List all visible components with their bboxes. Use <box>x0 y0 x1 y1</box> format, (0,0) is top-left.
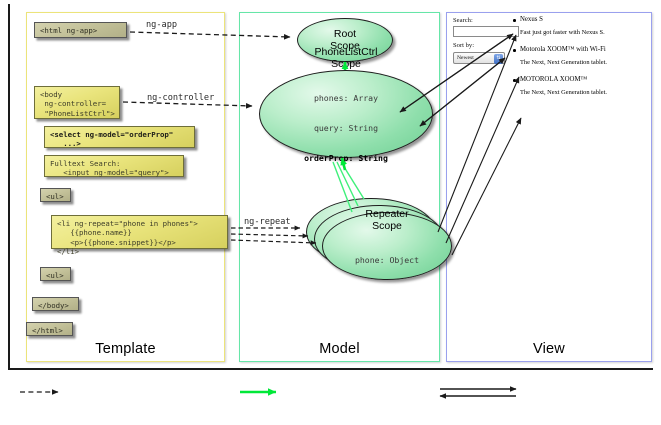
phone-snippet: Fast just got faster with Nexus S. <box>520 29 648 36</box>
template-box-html-tag: <html ng-app> <box>34 22 127 38</box>
diagram-root: Template Model View <html ng-app> <body … <box>0 0 661 425</box>
scope-property-phone: phone: Object <box>355 255 419 265</box>
edge-label-ng-controller: ng-controller <box>147 93 214 103</box>
legend: Implicit Scope Declaration Scope Inherit… <box>0 378 661 424</box>
view-search-input[interactable] <box>453 26 519 37</box>
phone-name: Nexus S <box>520 16 648 23</box>
scope-phonelistctrl-properties: phones: Array query: String orderProp: S… <box>304 73 388 183</box>
list-item[interactable]: Motorola XOOM™ with Wi-Fi The Next, Next… <box>520 46 648 66</box>
scope-repeater-title-line2: Scope <box>372 220 402 232</box>
template-box-li-repeat: <li ng-repeat="phone in phones"> {{phone… <box>51 215 228 249</box>
edge-label-ng-app: ng-app <box>146 20 177 30</box>
view-search-label: Search: <box>453 17 473 24</box>
template-box-select-tag: <select ng-model="orderProp" ...> <box>44 126 195 148</box>
template-box-fulltext-search: Fulltext Search: <input ng-model="query"… <box>44 155 184 177</box>
template-box-body-close: </body> <box>32 297 79 311</box>
view-sort-label: Sort by: <box>453 42 474 49</box>
scope-root-title-line1: Root <box>334 28 356 40</box>
legend-arrow-glyphs <box>0 378 661 424</box>
outer-frame-bottom-rule <box>8 368 653 370</box>
bullet-icon <box>513 19 516 22</box>
scope-phonelistctrl: PhoneListCtrl Scope phones: Array query:… <box>259 70 433 158</box>
view-app-preview: Search: Sort by: Newest ⇅ Nexus S Fast j… <box>452 16 648 338</box>
chevron-updown-icon: ⇅ <box>494 54 503 64</box>
bullet-icon <box>513 49 516 52</box>
scope-property-orderprop: orderProp: String <box>304 153 388 163</box>
scope-property-query: query: String <box>304 123 388 133</box>
phone-name: Motorola XOOM™ with Wi-Fi <box>520 46 648 53</box>
list-item[interactable]: Nexus S Fast just got faster with Nexus … <box>520 16 648 36</box>
scope-repeater: Repeater Scope phone: Object <box>322 212 452 280</box>
view-phone-list: Nexus S Fast just got faster with Nexus … <box>520 16 648 106</box>
panel-label-view: View <box>447 341 651 357</box>
scope-repeater-properties: phone: Object <box>355 235 419 285</box>
scope-repeater-title-line1: Repeater <box>365 208 408 220</box>
panel-label-model: Model <box>240 341 439 357</box>
phone-snippet: The Next, Next Generation tablet. <box>520 59 648 66</box>
scope-property-phones: phones: Array <box>304 93 388 103</box>
template-box-html-close: </html> <box>26 322 73 336</box>
phone-snippet: The Next, Next Generation tablet. <box>520 89 648 96</box>
scope-phonelistctrl-title-line1: PhoneListCtrl <box>314 46 377 58</box>
view-sort-selected-value: Newest <box>457 55 474 61</box>
phone-name: MOTOROLA XOOM™ <box>520 76 648 83</box>
template-box-body-tag: <body ng-controller= "PhoneListCtrl"> <box>34 86 120 119</box>
panel-label-template: Template <box>27 341 224 357</box>
view-sort-select[interactable]: Newest ⇅ <box>453 52 505 64</box>
scope-phonelistctrl-title-line2: Scope <box>331 58 361 70</box>
edge-label-ng-repeat: ng-repeat <box>244 217 291 227</box>
template-box-ul-open: <ul> <box>40 188 71 202</box>
template-box-ul-close: <ul> <box>40 267 71 281</box>
bullet-icon <box>513 79 516 82</box>
list-item[interactable]: MOTOROLA XOOM™ The Next, Next Generation… <box>520 76 648 96</box>
